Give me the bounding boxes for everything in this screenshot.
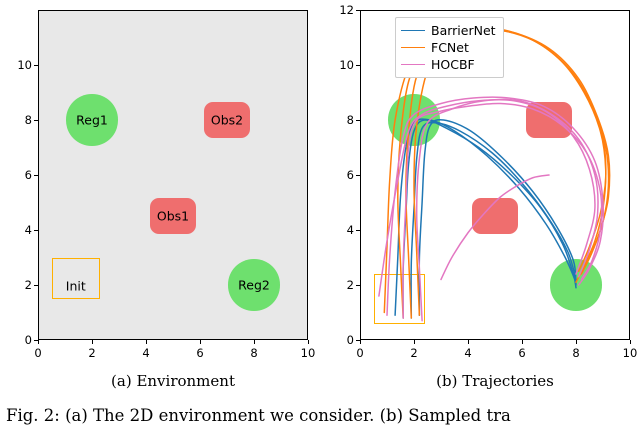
legend-label-hocbf: HOCBF bbox=[431, 57, 475, 72]
legend-label-fcnet: FCNet bbox=[431, 40, 469, 55]
legend-swatch-fcnet bbox=[401, 47, 425, 48]
panel-b-xtick-0: 0 bbox=[356, 346, 363, 360]
panel-a: Reg1 Reg2 Obs1 Obs2 Init 0 2 4 6 8 10 0 … bbox=[0, 0, 320, 432]
panel-b-xtick-2: 4 bbox=[464, 346, 471, 360]
panel-a-ytick-2: 4 bbox=[14, 223, 32, 237]
panel-a-xtick-4: 8 bbox=[250, 346, 257, 360]
figure-caption: Fig. 2: (a) The 2D environment we consid… bbox=[6, 406, 511, 425]
panel-a-caption: (a) Environment bbox=[111, 372, 235, 390]
panel-b-xtick-4: 8 bbox=[572, 346, 579, 360]
panel-b-ytick-4: 8 bbox=[334, 113, 354, 127]
panel-b-xtick-3: 6 bbox=[518, 346, 525, 360]
panel-b-ytick-0: 0 bbox=[334, 333, 354, 347]
panel-a-xtick-3: 6 bbox=[196, 346, 203, 360]
panel-a-ytick-5: 10 bbox=[14, 58, 32, 72]
panel-a-ytick-0: 0 bbox=[14, 333, 32, 347]
legend-item-barriernet: BarrierNet bbox=[401, 22, 496, 39]
legend-label-barriernet: BarrierNet bbox=[431, 23, 496, 38]
panel-b-ytick-3: 6 bbox=[334, 168, 354, 182]
legend-swatch-hocbf bbox=[401, 64, 425, 65]
region-reg1-label: Reg1 bbox=[76, 113, 108, 128]
panel-a-ytick-1: 2 bbox=[14, 278, 32, 292]
panel-a-ytick-4: 8 bbox=[14, 113, 32, 127]
figure-2: Reg1 Reg2 Obs1 Obs2 Init 0 2 4 6 8 10 0 … bbox=[0, 0, 640, 432]
region-init-label: Init bbox=[66, 279, 86, 294]
panel-b-ytick-5: 10 bbox=[334, 58, 354, 72]
region-obs1-label: Obs1 bbox=[157, 209, 189, 224]
panel-b-ytick-2: 4 bbox=[334, 223, 354, 237]
legend-swatch-barriernet bbox=[401, 30, 425, 31]
panel-b-ytick-1: 2 bbox=[334, 278, 354, 292]
panel-b-caption: (b) Trajectories bbox=[436, 372, 554, 390]
panel-a-xtick-2: 4 bbox=[142, 346, 149, 360]
legend: BarrierNet FCNet HOCBF bbox=[395, 17, 504, 78]
legend-item-fcnet: FCNet bbox=[401, 39, 496, 56]
panel-a-xtick-0: 0 bbox=[34, 346, 41, 360]
panel-b-xtick-5: 10 bbox=[623, 346, 638, 360]
panel-a-xtick-5: 10 bbox=[301, 346, 316, 360]
region-obs2-label: Obs2 bbox=[211, 113, 243, 128]
legend-item-hocbf: HOCBF bbox=[401, 56, 496, 73]
panel-b-xtick-1: 2 bbox=[410, 346, 417, 360]
panel-a-ytick-3: 6 bbox=[14, 168, 32, 182]
panel-a-xtick-1: 2 bbox=[88, 346, 95, 360]
region-reg2-label: Reg2 bbox=[238, 278, 270, 293]
panel-b-ytick-6: 12 bbox=[334, 3, 354, 17]
panel-b: BarrierNet FCNet HOCBF 0 2 4 6 8 10 bbox=[320, 0, 640, 432]
